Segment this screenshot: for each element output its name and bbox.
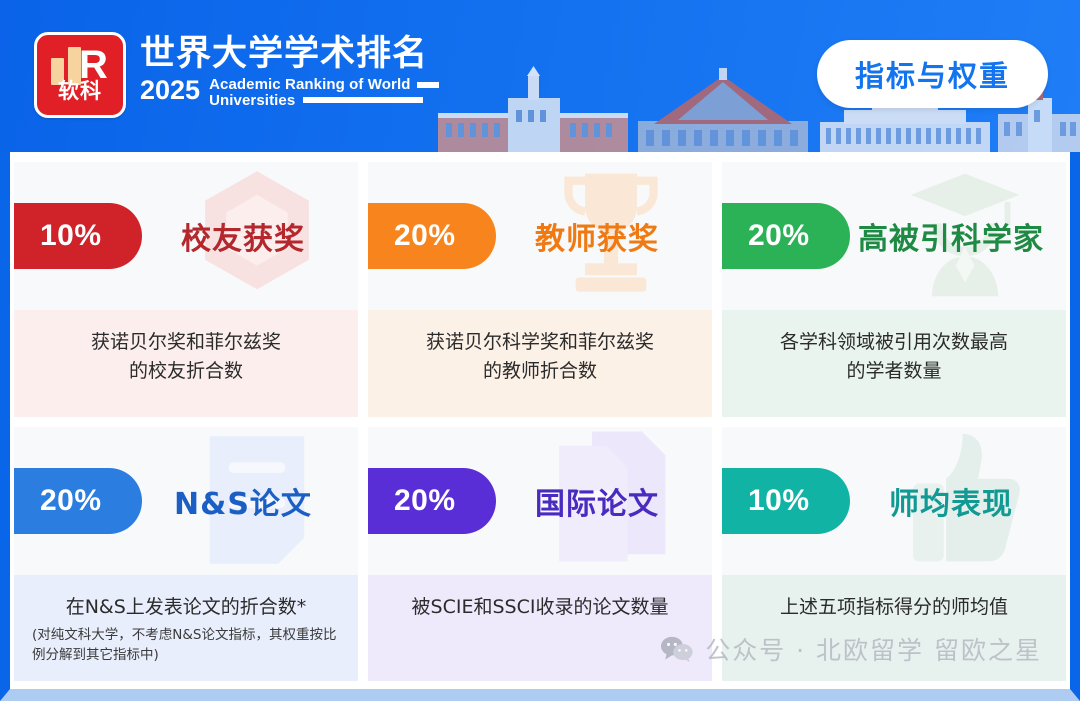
card-header: 10% 师均表现	[722, 427, 1066, 575]
brand-title-cn: 世界大学学术排名	[140, 34, 439, 74]
card-description: 获诺贝尔科学奖和菲尔兹奖的教师折合数	[426, 328, 654, 386]
card-header: 20% 国际论文	[368, 427, 712, 575]
card-body: 上述五项指标得分的师均值	[722, 575, 1066, 682]
poster-root: R 软科 世界大学学术排名 2025 Academic Ranking of W…	[0, 0, 1080, 701]
section-badge: 指标与权重	[817, 40, 1048, 108]
card-title: 校友获奖	[142, 214, 358, 258]
card-alumni-award[interactable]: 10% 校友获奖 获诺贝尔奖和菲尔兹奖的校友折合数	[14, 162, 358, 417]
card-body: 获诺贝尔科学奖和菲尔兹奖的教师折合数	[368, 310, 712, 417]
weight-pill: 10%	[722, 468, 850, 534]
weight-pill: 20%	[368, 203, 496, 269]
card-body: 各学科领域被引用次数最高的学者数量	[722, 310, 1066, 417]
brand-en-line2: Universities	[209, 93, 295, 109]
brand-title-en: Academic Ranking of World Universities	[209, 76, 438, 108]
card-description: 上述五项指标得分的师均值	[780, 593, 1008, 622]
header: R 软科 世界大学学术排名 2025 Academic Ranking of W…	[0, 0, 1080, 152]
card-title: N&S论文	[142, 479, 358, 523]
brand-text: 世界大学学术排名 2025 Academic Ranking of World …	[140, 32, 439, 108]
indicator-grid: 10% 校友获奖 获诺贝尔奖和菲尔兹奖的校友折合数 20% 教师获奖	[10, 152, 1070, 689]
card-title: 教师获奖	[496, 214, 712, 258]
weight-pill: 20%	[368, 468, 496, 534]
logo-cn-text: 软科	[37, 75, 123, 105]
card-description: 各学科领域被引用次数最高的学者数量	[780, 328, 1008, 386]
card-body: 被SCIE和SSCI收录的论文数量	[368, 575, 712, 682]
card-faculty-award[interactable]: 20% 教师获奖 获诺贝尔科学奖和菲尔兹奖的教师折合数	[368, 162, 712, 417]
weight-pill: 20%	[722, 203, 850, 269]
weight-pill: 20%	[14, 468, 142, 534]
brand: R 软科 世界大学学术排名 2025 Academic Ranking of W…	[34, 32, 439, 118]
card-title: 国际论文	[496, 479, 712, 523]
card-international-papers[interactable]: 20% 国际论文 被SCIE和SSCI收录的论文数量	[368, 427, 712, 682]
brand-subtitle: 2025 Academic Ranking of World Universit…	[140, 76, 439, 108]
card-description: 被SCIE和SSCI收录的论文数量	[412, 593, 669, 622]
card-header: 10% 校友获奖	[14, 162, 358, 310]
brand-en-line1: Academic Ranking of World	[209, 76, 410, 93]
card-body: 在N&S上发表论文的折合数* (对纯文科大学，不考虑N&S论文指标，其权重按比例…	[14, 575, 358, 682]
card-header: 20% 教师获奖	[368, 162, 712, 310]
brand-year: 2025	[140, 76, 200, 104]
card-ns-papers[interactable]: 20% N&S论文 在N&S上发表论文的折合数* (对纯文科大学，不考虑N&S论…	[14, 427, 358, 682]
card-description: 在N&S上发表论文的折合数*	[66, 593, 307, 622]
weight-pill: 10%	[14, 203, 142, 269]
card-highly-cited-scientists[interactable]: 20% 高被引科学家 各学科领域被引用次数最高的学者数量	[722, 162, 1066, 417]
card-title: 师均表现	[850, 479, 1066, 523]
card-description: 获诺贝尔奖和菲尔兹奖的校友折合数	[91, 328, 281, 386]
card-title: 高被引科学家	[850, 214, 1066, 258]
card-per-capita-performance[interactable]: 10% 师均表现 上述五项指标得分的师均值	[722, 427, 1066, 682]
rule-short-icon	[417, 82, 439, 88]
ruanke-logo-icon: R 软科	[34, 32, 126, 118]
rule-long-icon	[303, 97, 423, 103]
card-body: 获诺贝尔奖和菲尔兹奖的校友折合数	[14, 310, 358, 417]
card-header: 20% N&S论文	[14, 427, 358, 575]
card-header: 20% 高被引科学家	[722, 162, 1066, 310]
card-footnote: (对纯文科大学，不考虑N&S论文指标，其权重按比例分解到其它指标中)	[30, 625, 342, 665]
